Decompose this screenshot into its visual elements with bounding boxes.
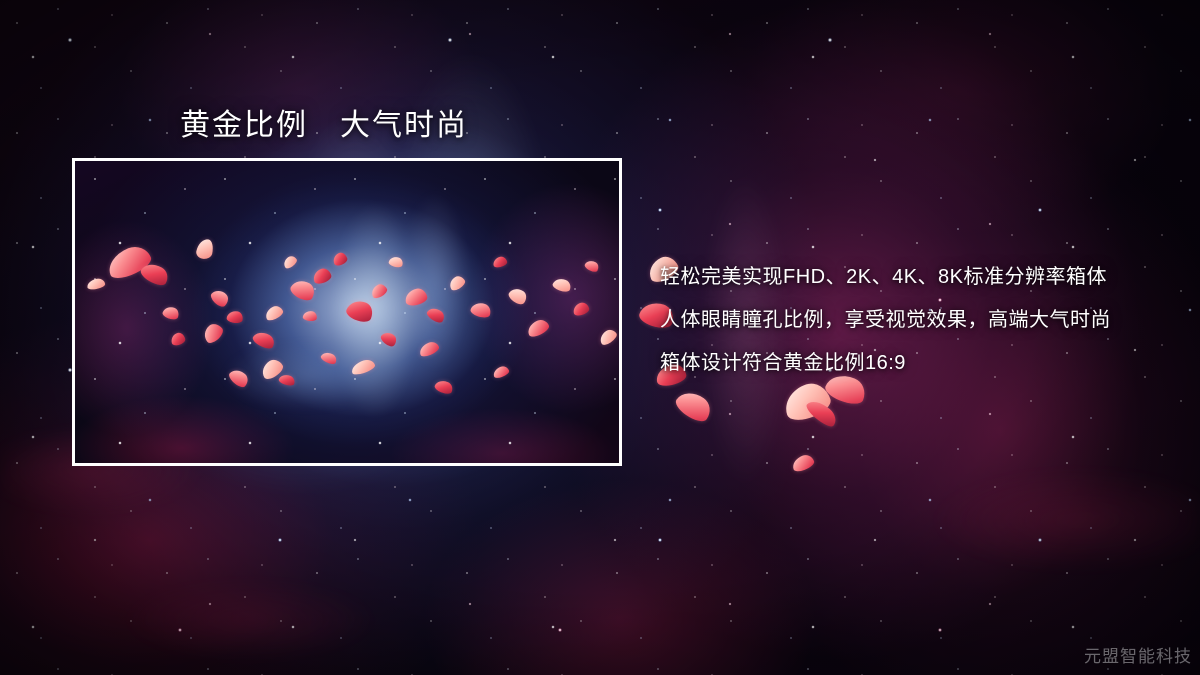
body-line-1: 轻松完美实现FHD、2K、4K、8K标准分辨率箱体 xyxy=(660,256,1180,299)
preview-panel[interactable] xyxy=(72,158,622,466)
petal-shape xyxy=(804,396,840,430)
page-title: 黄金比例 大气时尚 xyxy=(180,100,468,144)
watermark: 元盟智能科技 xyxy=(1084,642,1192,667)
body-line-3: 箱体设计符合黄金比例16:9 xyxy=(660,342,1180,385)
body-line-2: 人体眼睛瞳孔比例，享受视觉效果，高端大气时尚 xyxy=(660,299,1180,342)
petal-shape xyxy=(790,453,815,474)
presentation-slide: 黄金比例 大气时尚 轻松完美实现FHD、2K、4K、8K标准分辨率箱体 人体眼睛… xyxy=(0,0,1200,675)
petal-shape xyxy=(672,386,715,426)
petal-shape xyxy=(780,379,834,425)
panel-nebula-wisps xyxy=(75,161,619,463)
body-copy: 轻松完美实现FHD、2K、4K、8K标准分辨率箱体 人体眼睛瞳孔比例，享受视觉效… xyxy=(660,256,1180,385)
